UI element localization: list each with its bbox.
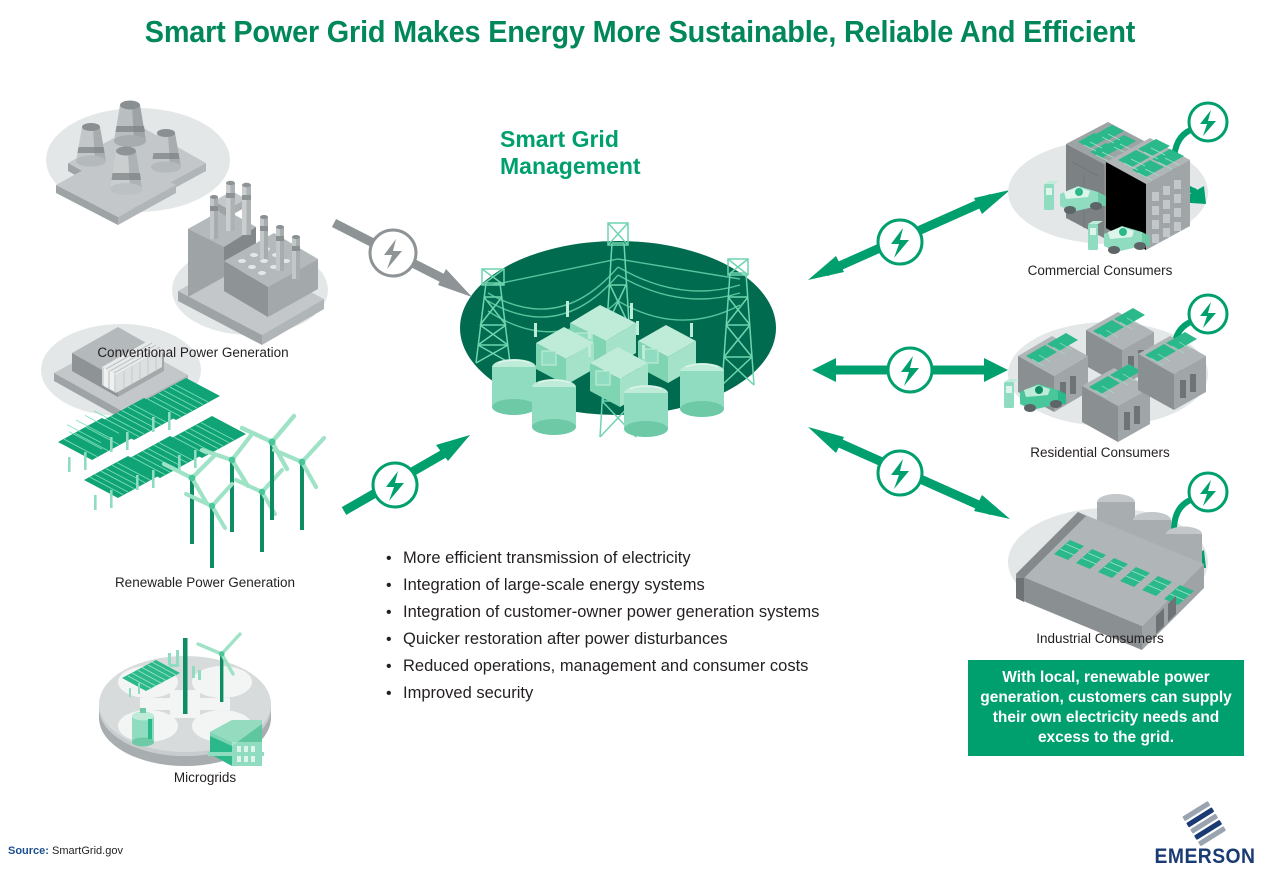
- center-heading-line2: Management: [500, 153, 760, 180]
- group-commercial-consumers: Commercial Consumers: [960, 100, 1240, 290]
- list-item-label: Quicker restoration after power disturba…: [403, 626, 728, 653]
- callout-text: With local, renewable power generation, …: [968, 668, 1244, 747]
- list-item-label: Improved security: [403, 680, 533, 707]
- caption-microgrids: Microgrids: [80, 770, 330, 785]
- list-item-label: Reduced operations, management and consu…: [403, 653, 808, 680]
- arrow-conventional-to-grid: [330, 205, 480, 315]
- list-item: • More efficient transmission of electri…: [386, 545, 906, 572]
- emerson-wordmark: EMERSON: [1145, 845, 1265, 869]
- renewable-power-illustration: [40, 400, 370, 600]
- caption-residential-consumers: Residential Consumers: [960, 445, 1240, 460]
- emerson-logo: EMERSON: [1140, 805, 1270, 873]
- caption-renewable-power-generation: Renewable Power Generation: [40, 575, 370, 590]
- source-label: Source:: [8, 845, 49, 857]
- list-item-label: Integration of customer-owner power gene…: [403, 599, 819, 626]
- list-item: • Integration of large-scale energy syst…: [386, 572, 906, 599]
- emerson-mark-icon: [1140, 805, 1270, 847]
- group-industrial-consumers: Industrial Consumers: [960, 468, 1240, 658]
- bullet-glyph: •: [386, 653, 403, 680]
- bullet-glyph: •: [386, 626, 403, 653]
- benefits-list: • More efficient transmission of electri…: [386, 545, 906, 707]
- page-title: Smart Power Grid Makes Energy More Susta…: [45, 14, 1235, 50]
- group-residential-consumers: Residential Consumers: [960, 292, 1240, 472]
- commercial-consumers-illustration: [960, 100, 1240, 290]
- list-item-label: Integration of large-scale energy system…: [403, 572, 705, 599]
- list-item: • Quicker restoration after power distur…: [386, 626, 906, 653]
- group-conventional-power-generation: Conventional Power Generation: [28, 85, 358, 385]
- bullet-glyph: •: [386, 545, 403, 572]
- list-item: • Improved security: [386, 680, 906, 707]
- list-item: • Integration of customer-owner power ge…: [386, 599, 906, 626]
- smart-grid-illustration: [440, 185, 800, 445]
- bullet-glyph: •: [386, 572, 403, 599]
- source-line: Source: SmartGrid.gov: [8, 845, 123, 857]
- group-microgrids: Microgrids: [80, 620, 330, 790]
- infographic-canvas: Smart Power Grid Makes Energy More Susta…: [0, 0, 1280, 880]
- bullet-glyph: •: [386, 680, 403, 707]
- caption-commercial-consumers: Commercial Consumers: [960, 263, 1240, 278]
- source-value: SmartGrid.gov: [52, 845, 123, 857]
- arrow-renewable-to-grid: [340, 425, 480, 525]
- list-item-label: More efficient transmission of electrici…: [403, 545, 691, 572]
- callout-box: With local, renewable power generation, …: [968, 660, 1244, 756]
- list-item: • Reduced operations, management and con…: [386, 653, 906, 680]
- industrial-consumers-illustration: [960, 468, 1240, 658]
- caption-industrial-consumers: Industrial Consumers: [960, 631, 1240, 646]
- center-heading: Smart Grid Management: [500, 126, 760, 179]
- caption-conventional-power-generation: Conventional Power Generation: [28, 345, 358, 360]
- bullet-glyph: •: [386, 599, 403, 626]
- microgrid-battery-icon: [132, 708, 154, 747]
- group-renewable-power-generation: Renewable Power Generation: [40, 400, 370, 600]
- microgrids-illustration: [80, 620, 330, 790]
- center-heading-line1: Smart Grid: [500, 126, 619, 152]
- conventional-power-illustration: [28, 85, 358, 385]
